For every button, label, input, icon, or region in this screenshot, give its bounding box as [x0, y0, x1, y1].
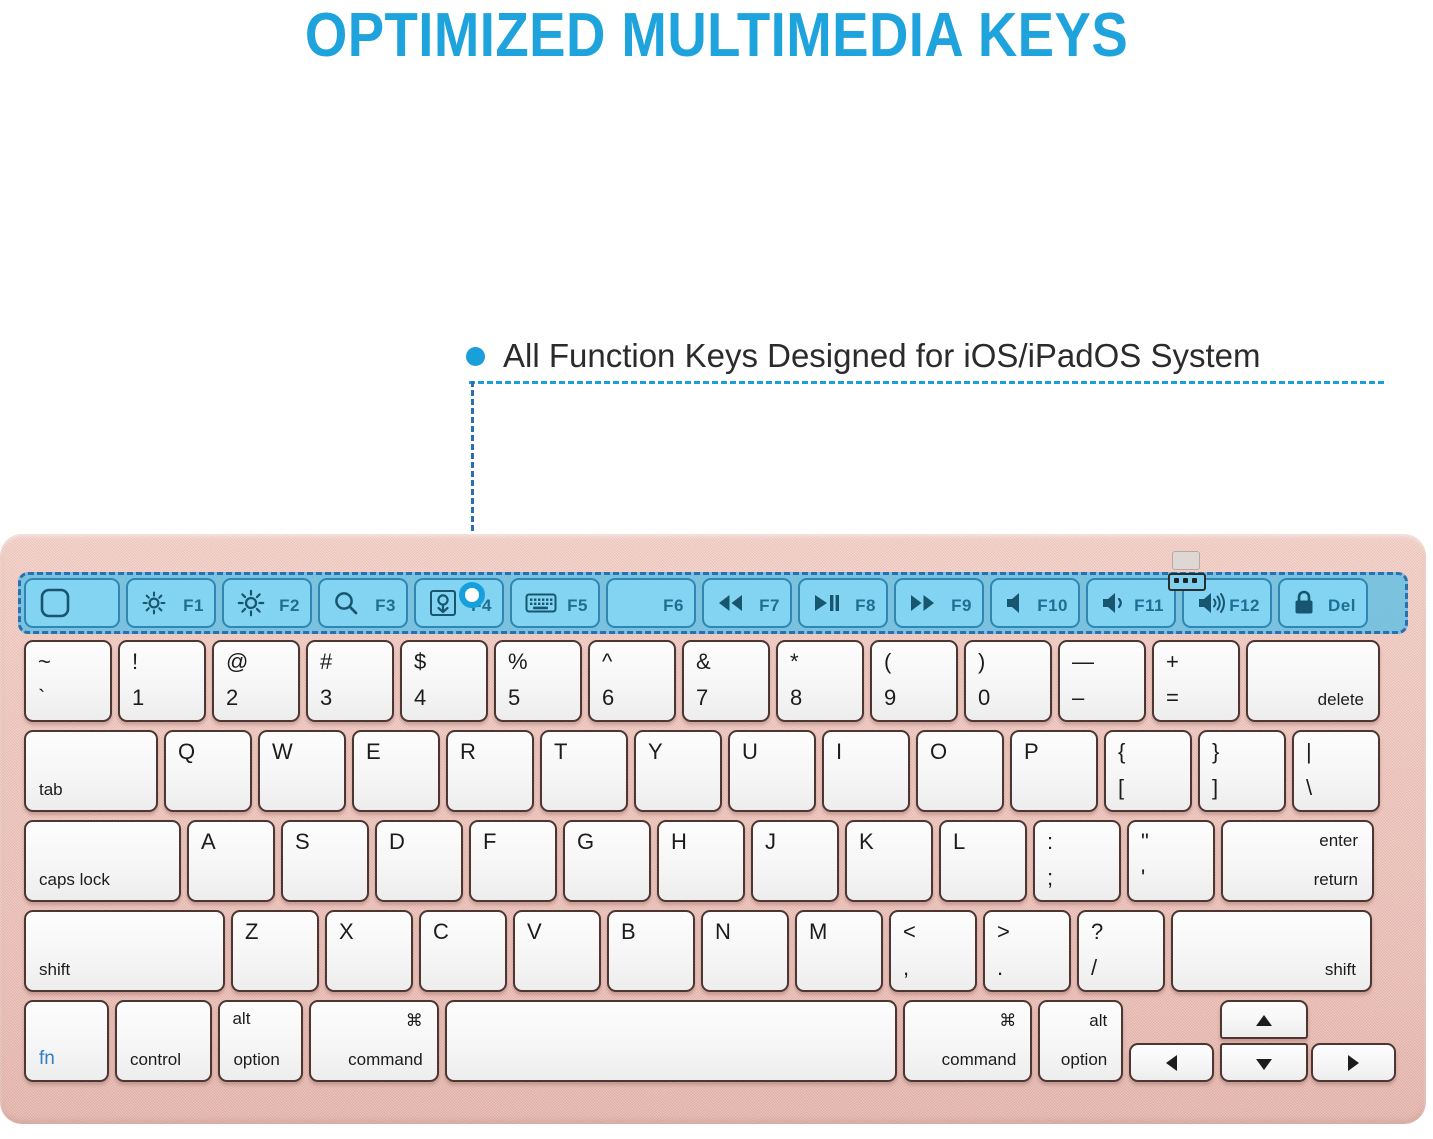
key-legend: O — [930, 739, 947, 765]
function-key-f10[interactable]: F10 — [990, 578, 1080, 628]
key-legend-bottom: shift — [39, 960, 70, 980]
key-legend-bottom: 7 — [696, 685, 708, 711]
key-letter-z[interactable]: Z — [231, 910, 319, 992]
home-key-row: caps lockASDFGHJKL:;"'enterreturn — [24, 820, 1402, 902]
key-legend-top: ⌘ — [999, 1011, 1016, 1031]
key-letter-i[interactable]: I — [822, 730, 910, 812]
callout-label: All Function Keys Designed for iOS/iPadO… — [503, 337, 1261, 375]
function-key-f8[interactable]: F8 — [798, 578, 888, 628]
function-key-label: F6 — [663, 596, 684, 616]
key-legend: W — [272, 739, 293, 765]
key-legend: F — [483, 829, 496, 855]
key-legend: N — [715, 919, 731, 945]
key-letter-n[interactable]: N — [701, 910, 789, 992]
play-pause-icon — [813, 592, 841, 614]
key-legend-top: & — [696, 649, 711, 675]
key-legend-top: % — [508, 649, 528, 675]
bullet-dot-icon — [466, 347, 485, 366]
key-legend-top: — — [1072, 649, 1094, 675]
arrow-left-icon — [1131, 1053, 1212, 1073]
key-command-left[interactable]: ⌘command — [309, 1000, 438, 1082]
volume-down-icon — [1101, 591, 1125, 615]
key-legend-bottom: tab — [39, 780, 63, 800]
function-key-label: F7 — [759, 596, 780, 616]
key-sym-8[interactable]: <, — [889, 910, 977, 992]
key-option-left[interactable]: altoption — [218, 1000, 303, 1082]
key-legend-bottom: 9 — [884, 685, 896, 711]
function-key-del[interactable]: Del — [1278, 578, 1368, 628]
key-arrow-left[interactable] — [1129, 1043, 1214, 1082]
key-letter-o[interactable]: O — [916, 730, 1004, 812]
key-legend-top: alt — [1089, 1011, 1107, 1031]
key-arrow-right[interactable] — [1311, 1043, 1396, 1082]
key-letter-v[interactable]: V — [513, 910, 601, 992]
key-legend-bottom: ' — [1141, 865, 1145, 891]
key-legend-top: alt — [232, 1009, 250, 1029]
key-legend-bottom: delete — [1318, 690, 1364, 710]
key-legend-top: { — [1118, 739, 1125, 765]
key-legend-bottom: option — [1061, 1050, 1107, 1070]
function-key-f2[interactable]: F2 — [222, 578, 312, 628]
function-key-label: F1 — [183, 596, 204, 616]
key-sym-9[interactable]: (9 — [870, 640, 958, 722]
key-legend-top: # — [320, 649, 332, 675]
key-legend-bottom: – — [1072, 685, 1084, 711]
key-legend-top: $ — [414, 649, 426, 675]
arrow-down-icon — [1222, 1055, 1306, 1071]
key-legend-top: ? — [1091, 919, 1103, 945]
key-letter-w[interactable]: W — [258, 730, 346, 812]
key-sym-5[interactable]: %5 — [494, 640, 582, 722]
function-key-f1[interactable]: F1 — [126, 578, 216, 628]
search-icon — [333, 590, 359, 616]
key-sym-11[interactable]: {[ — [1104, 730, 1192, 812]
key-letter-j[interactable]: J — [751, 820, 839, 902]
qwerty-key-row: tabQWERTYUIOP{[}]|\ — [24, 730, 1402, 812]
key-legend-top: + — [1166, 649, 1179, 675]
key-sym-8[interactable]: *8 — [776, 640, 864, 722]
keyboard-icon — [525, 591, 557, 615]
key-letter-b[interactable]: B — [607, 910, 695, 992]
key-caps-lock[interactable]: caps lock — [24, 820, 181, 902]
home-square-icon — [39, 587, 71, 619]
key-legend-bottom: 0 — [978, 685, 990, 711]
key-legend: Y — [648, 739, 663, 765]
key-legend-top: enter — [1319, 831, 1358, 851]
key-legend: I — [836, 739, 842, 765]
function-key-label: F2 — [279, 596, 300, 616]
key-letter-h[interactable]: H — [657, 820, 745, 902]
key-legend: H — [671, 829, 687, 855]
key-sym-1[interactable]: !1 — [118, 640, 206, 722]
key-legend-bottom: / — [1091, 955, 1097, 981]
key-legend: X — [339, 919, 354, 945]
key-legend: R — [460, 739, 476, 765]
function-key-home[interactable] — [24, 578, 120, 628]
key-sym-11[interactable]: "' — [1127, 820, 1215, 902]
key-shift[interactable]: shift — [24, 910, 225, 992]
key-option-right[interactable]: altoption — [1038, 1000, 1123, 1082]
key-letter-t[interactable]: T — [540, 730, 628, 812]
key-legend-bottom: = — [1166, 685, 1179, 711]
key-legend: K — [859, 829, 874, 855]
key-letter-f[interactable]: F — [469, 820, 557, 902]
key-sym-0[interactable]: ~` — [24, 640, 112, 722]
volume-up-icon — [1197, 591, 1229, 615]
key-legend-top: < — [903, 919, 916, 945]
function-key-label: F3 — [375, 596, 396, 616]
key-letter-r[interactable]: R — [446, 730, 534, 812]
key-legend-bottom: 3 — [320, 685, 332, 711]
key-control[interactable]: control — [115, 1000, 213, 1082]
key-command-right[interactable]: ⌘command — [903, 1000, 1032, 1082]
key-letter-x[interactable]: X — [325, 910, 413, 992]
fast-forward-icon — [909, 592, 936, 614]
key-legend: C — [433, 919, 449, 945]
key-legend-bottom: ` — [38, 685, 45, 711]
key-letter-g[interactable]: G — [563, 820, 651, 902]
key-space[interactable] — [445, 1000, 897, 1082]
key-legend-bottom: control — [130, 1050, 181, 1070]
function-key-label: F11 — [1134, 596, 1164, 616]
key-legend: B — [621, 919, 636, 945]
callout-target-marker — [459, 582, 485, 608]
key-legend-top: } — [1212, 739, 1219, 765]
key-legend: V — [527, 919, 542, 945]
function-key-f11[interactable]: F11 — [1086, 578, 1176, 628]
key-legend-bottom: command — [348, 1050, 423, 1070]
key-letter-p[interactable]: P — [1010, 730, 1098, 812]
key-letter-m[interactable]: M — [795, 910, 883, 992]
key-letter-k[interactable]: K — [845, 820, 933, 902]
key-legend: G — [577, 829, 594, 855]
key-sym-13[interactable]: |\ — [1292, 730, 1380, 812]
key-legend-top: ^ — [602, 649, 612, 675]
key-legend-bottom: [ — [1118, 775, 1124, 801]
key-legend: L — [953, 829, 965, 855]
function-key-label: F12 — [1229, 596, 1260, 616]
function-key-label: F10 — [1037, 596, 1068, 616]
key-letter-e[interactable]: E — [352, 730, 440, 812]
key-legend-top: ~ — [38, 649, 51, 675]
key-legend-bottom: return — [1314, 870, 1358, 890]
key-legend: Z — [245, 919, 258, 945]
key-legend-top: * — [790, 649, 799, 675]
key-shift[interactable]: shift — [1171, 910, 1372, 992]
key-legend: U — [742, 739, 758, 765]
key-legend-bottom: caps lock — [39, 870, 110, 890]
mute-icon — [1005, 591, 1023, 615]
key-legend: J — [765, 829, 776, 855]
key-legend: S — [295, 829, 310, 855]
key-sym-7[interactable]: &7 — [682, 640, 770, 722]
function-key-f7[interactable]: F7 — [702, 578, 792, 628]
key-legend-bottom: 4 — [414, 685, 426, 711]
bottom-key-row: fncontrolaltoption⌘command⌘commandaltopt… — [24, 1000, 1402, 1082]
key-tab[interactable]: tab — [24, 730, 158, 812]
key-letter-a[interactable]: A — [187, 820, 275, 902]
key-letter-q[interactable]: Q — [164, 730, 252, 812]
function-key-label: Del — [1328, 596, 1356, 616]
key-legend-top: : — [1047, 829, 1053, 855]
shift-key-row: shiftZXCVBNM<,>.?/shift — [24, 910, 1402, 992]
key-legend-top: ( — [884, 649, 891, 675]
key-legend-top: ! — [132, 649, 138, 675]
key-legend-bottom: 5 — [508, 685, 520, 711]
key-arrow-down[interactable] — [1220, 1043, 1308, 1082]
key-legend: T — [554, 739, 567, 765]
key-sym-10[interactable]: )0 — [964, 640, 1052, 722]
key-legend-bottom: 6 — [602, 685, 614, 711]
key-legend-top: @ — [226, 649, 248, 675]
rewind-icon — [717, 592, 744, 614]
battery-indicator-icon — [1168, 573, 1206, 591]
arrow-right-icon — [1313, 1053, 1394, 1073]
function-key-f3[interactable]: F3 — [318, 578, 408, 628]
key-delete[interactable]: delete — [1246, 640, 1380, 722]
key-sym-2[interactable]: @2 — [212, 640, 300, 722]
key-fn[interactable]: fn — [24, 1000, 109, 1082]
key-sym-11[interactable]: —– — [1058, 640, 1146, 722]
key-letter-l[interactable]: L — [939, 820, 1027, 902]
function-key-f6[interactable]: F6 — [606, 578, 696, 628]
number-key-row: ~`!1@2#3$4%5^6&7*8(9)0—–+=delete — [24, 640, 1402, 722]
key-legend: Q — [178, 739, 195, 765]
callout-underline — [469, 381, 1384, 384]
key-sym-10[interactable]: :; — [1033, 820, 1121, 902]
lock-icon — [1293, 591, 1315, 616]
key-legend-bottom: command — [942, 1050, 1017, 1070]
page-title: OPTIMIZED MULTIMEDIA KEYS — [86, 0, 1347, 72]
key-legend-top: " — [1141, 829, 1149, 855]
arrow-up-icon — [1222, 1012, 1306, 1028]
key-legend-bottom: \ — [1306, 775, 1312, 801]
function-key-label: F9 — [951, 596, 972, 616]
key-legend: M — [809, 919, 827, 945]
function-key-label: F5 — [567, 596, 588, 616]
key-legend-bottom: ] — [1212, 775, 1218, 801]
keyboard-device: F1F2F3F4F5F6F7F8F9F10F11F12Del ~`!1@2#3$… — [0, 534, 1426, 1124]
key-legend-bottom: fn — [39, 1048, 55, 1070]
brightness-up-icon — [237, 589, 265, 617]
key-legend-bottom: 1 — [132, 685, 144, 711]
key-letter-y[interactable]: Y — [634, 730, 722, 812]
key-sym-4[interactable]: $4 — [400, 640, 488, 722]
key-legend: E — [366, 739, 381, 765]
key-legend: A — [201, 829, 216, 855]
key-legend: P — [1024, 739, 1039, 765]
key-legend-bottom: ; — [1047, 865, 1053, 891]
key-return[interactable]: enterreturn — [1221, 820, 1374, 902]
siri-mic-icon — [429, 589, 457, 617]
key-sym-12[interactable]: += — [1152, 640, 1240, 722]
key-arrow-up-down-group — [1220, 1000, 1305, 1082]
key-letter-d[interactable]: D — [375, 820, 463, 902]
key-legend-bottom: 8 — [790, 685, 802, 711]
function-key-f5[interactable]: F5 — [510, 578, 600, 628]
key-legend-bottom: 2 — [226, 685, 238, 711]
function-key-f4[interactable]: F4 — [414, 578, 504, 628]
key-sym-10[interactable]: ?/ — [1077, 910, 1165, 992]
key-legend-bottom: . — [997, 955, 1003, 981]
key-legend-top: ⌘ — [406, 1011, 423, 1031]
key-letter-u[interactable]: U — [728, 730, 816, 812]
key-letter-s[interactable]: S — [281, 820, 369, 902]
key-sym-6[interactable]: ^6 — [588, 640, 676, 722]
key-legend: D — [389, 829, 405, 855]
brightness-down-icon — [141, 590, 167, 616]
key-legend-top: > — [997, 919, 1010, 945]
key-sym-9[interactable]: >. — [983, 910, 1071, 992]
key-arrow-up[interactable] — [1220, 1000, 1308, 1039]
function-key-f9[interactable]: F9 — [894, 578, 984, 628]
function-key-label: F8 — [855, 596, 876, 616]
key-legend-bottom: , — [903, 955, 909, 981]
key-legend-top: ) — [978, 649, 985, 675]
key-legend-bottom: option — [233, 1050, 279, 1070]
key-sym-12[interactable]: }] — [1198, 730, 1286, 812]
led-indicator-icon — [1172, 551, 1200, 570]
key-sym-3[interactable]: #3 — [306, 640, 394, 722]
callout-annotation: All Function Keys Designed for iOS/iPadO… — [466, 330, 1386, 382]
key-legend-bottom: shift — [1325, 960, 1356, 980]
key-letter-c[interactable]: C — [419, 910, 507, 992]
key-legend-top: | — [1306, 739, 1312, 765]
